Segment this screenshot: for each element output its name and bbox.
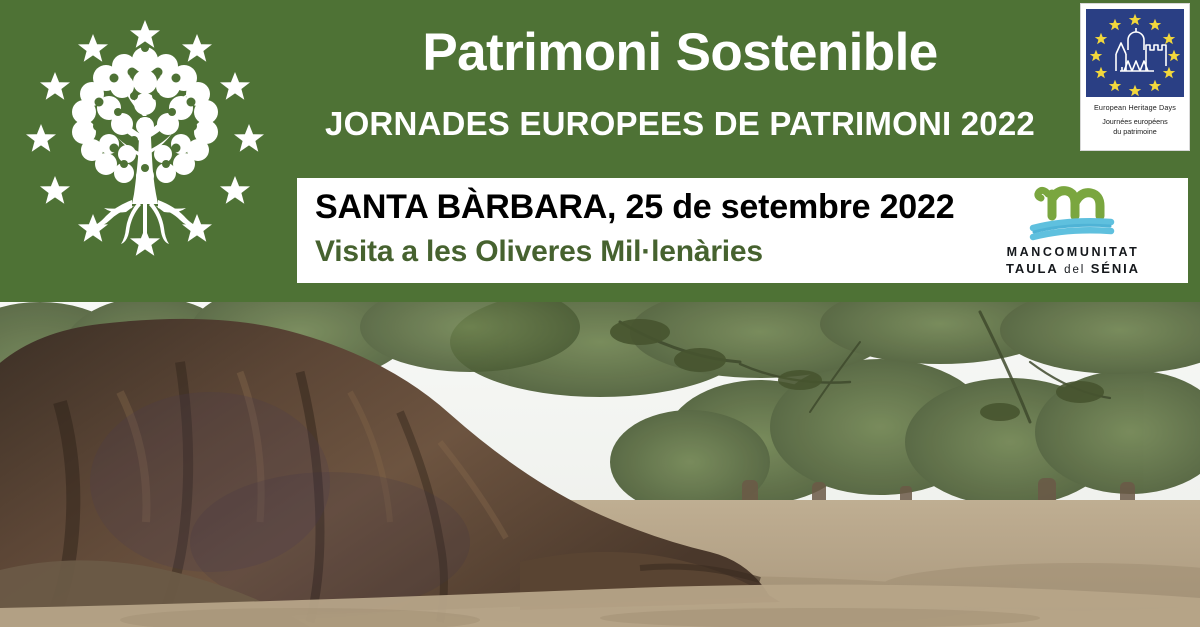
- ehd-caption-english: European Heritage Days: [1094, 103, 1176, 112]
- mancomunitat-taula-del-senia-logo-icon: MANCOMUNITAT TAULA del SÉNIA: [978, 182, 1168, 278]
- ehd-caption-french-line1: Journées européens: [1102, 117, 1168, 127]
- ehd-caption-french: Journées européens du patrimoine: [1102, 117, 1168, 138]
- ehd-caption-french-line2: du patrimoine: [1102, 127, 1168, 137]
- mancomunitat-taula: TAULA: [1006, 261, 1059, 276]
- event-photo: [0, 302, 1200, 627]
- mancomunitat-name-line1: MANCOMUNITAT: [978, 245, 1168, 259]
- event-activity: Visita a les Oliveres Mil·lenàries: [315, 235, 763, 269]
- header-band: Patrimoni Sostenible JORNADES EUROPEES D…: [0, 0, 1200, 302]
- mancomunitat-senia: SÉNIA: [1091, 261, 1140, 276]
- page-title: Patrimoni Sostenible: [300, 25, 1060, 81]
- mancomunitat-del: del: [1064, 264, 1085, 276]
- european-heritage-days-logo-icon: European Heritage Days Journées européen…: [1080, 3, 1190, 151]
- page-subtitle: JORNADES EUROPEES DE PATRIMONI 2022: [300, 105, 1060, 143]
- eu-flag-with-monument-icon: [1086, 9, 1184, 97]
- event-info-box: SANTA BÀRBARA, 25 de setembre 2022 Visit…: [297, 178, 1188, 283]
- poster: Patrimoni Sostenible JORNADES EUROPEES D…: [0, 0, 1200, 627]
- event-place-and-date: SANTA BÀRBARA, 25 de setembre 2022: [315, 188, 954, 227]
- tree-with-roots-and-twelve-stars-emblem-icon: [14, 8, 276, 288]
- mancomunitat-name-line2: TAULA del SÉNIA: [978, 261, 1168, 276]
